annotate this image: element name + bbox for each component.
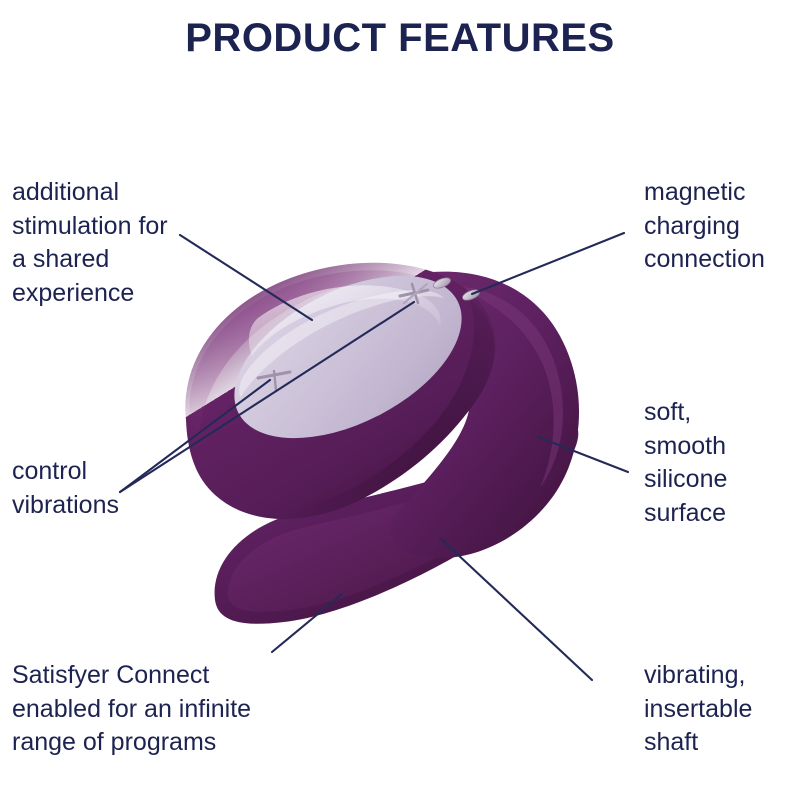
control-panel-shine xyxy=(239,290,444,398)
minus-button[interactable] xyxy=(258,371,290,390)
charging-pin-2 xyxy=(461,288,481,303)
leader-line-soft xyxy=(538,437,628,472)
leader-line-vibrating xyxy=(440,538,592,680)
ring-highlight xyxy=(452,286,563,488)
product-features-diagram: PRODUCT FEATURES xyxy=(0,0,800,800)
callout-label-additional-stimulation: additional stimulation for a shared expe… xyxy=(12,176,262,310)
curved-ring xyxy=(390,272,579,559)
shaft-highlight xyxy=(228,448,562,612)
body-shadow xyxy=(246,300,494,519)
ring-shape xyxy=(390,272,579,559)
magnetic-charging-pins xyxy=(432,276,481,303)
control-panel-gloss xyxy=(249,285,441,356)
callout-label-control-vibrations: control vibrations xyxy=(12,455,242,522)
callout-label-soft-silicone: soft, smooth silicone surface xyxy=(644,396,800,530)
page-title: PRODUCT FEATURES xyxy=(0,16,800,61)
callout-label-satisfyer-connect: Satisfyer Connect enabled for an infinit… xyxy=(12,659,352,760)
shaft-shape xyxy=(215,426,579,624)
leader-line-connect xyxy=(272,594,342,652)
leader-line-magnetic xyxy=(472,233,624,294)
insertable-shaft xyxy=(215,426,579,624)
plus-button[interactable] xyxy=(400,284,428,303)
charging-pin-1 xyxy=(432,276,452,291)
callout-label-magnetic-charging: magnetic charging connection xyxy=(644,176,800,277)
callout-label-vibrating-shaft: vibrating, insertable shaft xyxy=(644,659,800,760)
